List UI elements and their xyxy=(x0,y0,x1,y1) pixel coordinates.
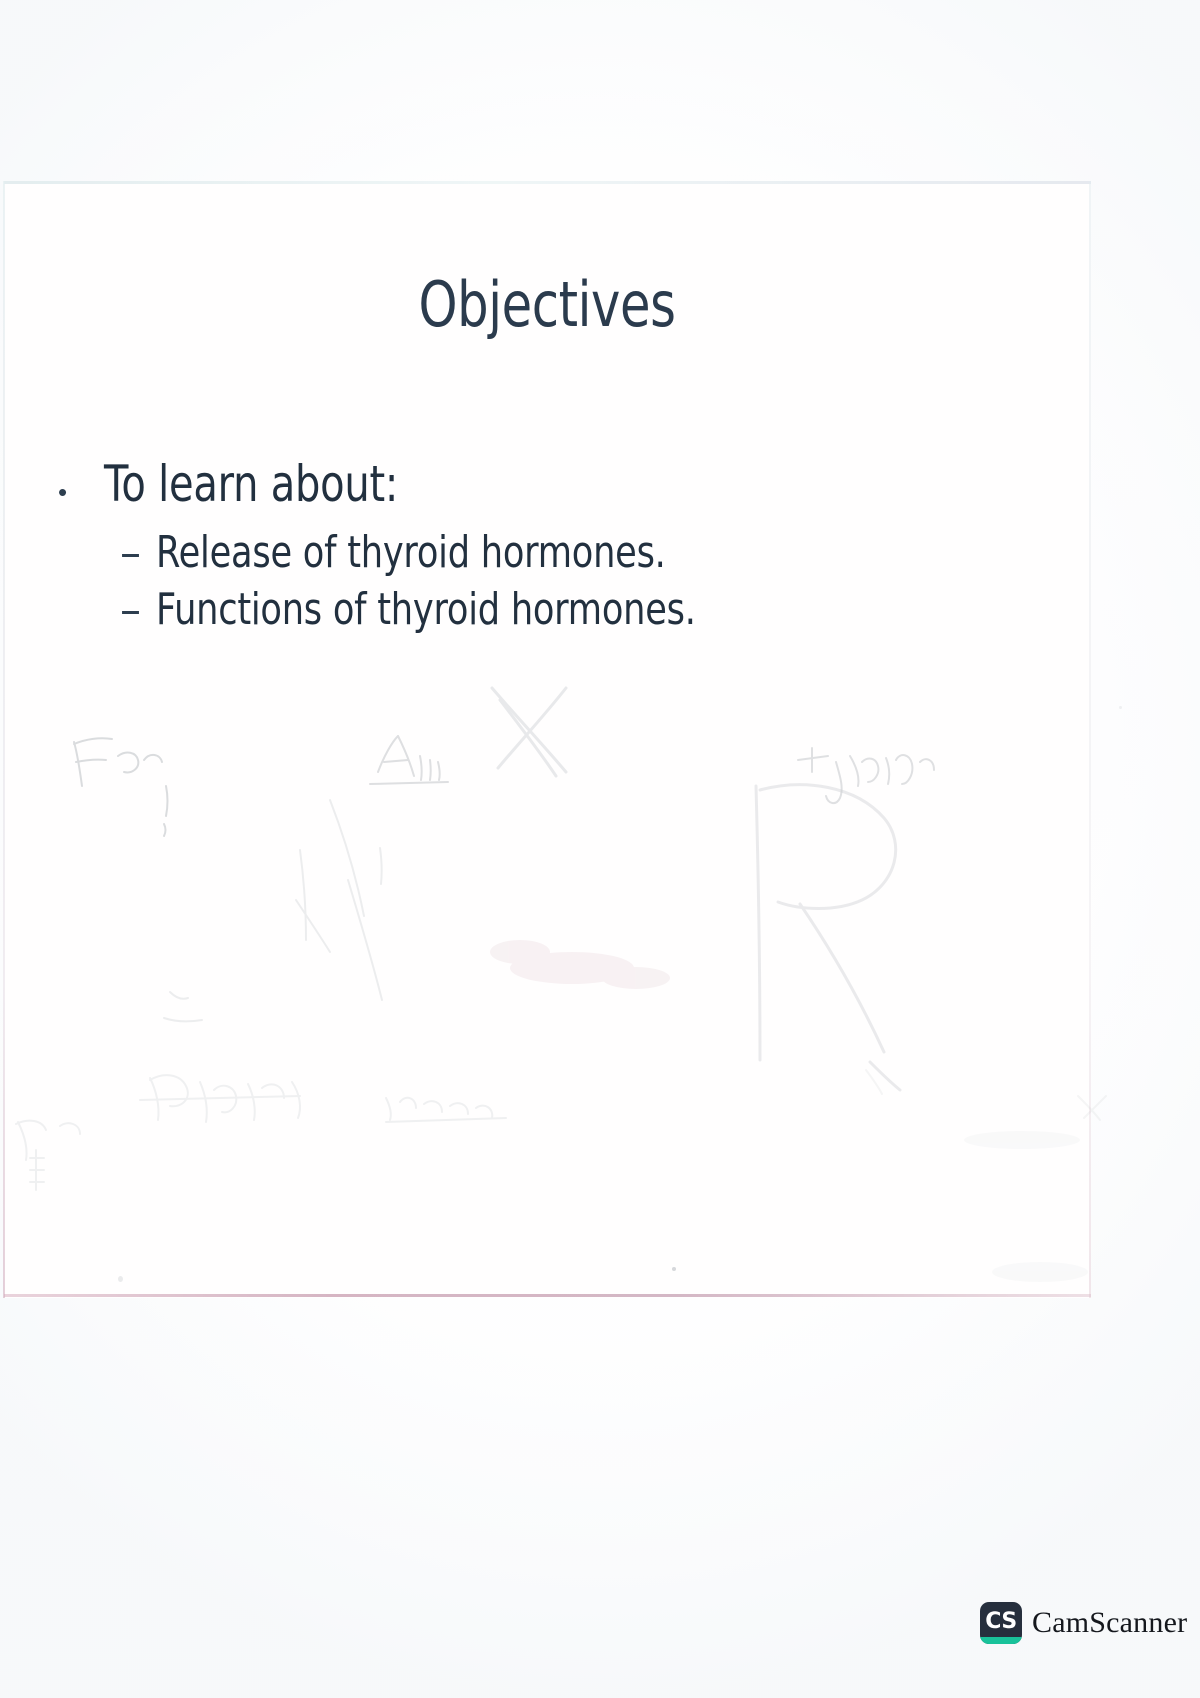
camscanner-watermark: CS CamScanner xyxy=(980,1602,1187,1644)
scanned-page: Objectives • To learn about: – Release o… xyxy=(0,0,1200,1698)
bullet-text-functions-of-thyroid-hormones: Functions of thyroid hormones. xyxy=(156,584,696,635)
bullet-item-sub-release: – Release of thyroid hormones. xyxy=(0,527,1094,578)
slide-title: Objectives xyxy=(109,268,984,341)
bullet-marker-dash-icon: – xyxy=(120,532,156,574)
camscanner-logo-letters: CS xyxy=(985,1611,1016,1633)
camscanner-logo-accent-bar xyxy=(980,1637,1022,1644)
scan-speck xyxy=(118,1276,123,1282)
bullet-item-sub-functions: – Functions of thyroid hormones. xyxy=(0,584,1094,635)
camscanner-wordmark: CamScanner xyxy=(1032,1606,1187,1640)
bullet-item-primary: • To learn about: xyxy=(0,455,1094,513)
slide-bullet-list: • To learn about: – Release of thyroid h… xyxy=(0,455,1094,641)
slide-region xyxy=(4,181,1091,1298)
camscanner-logo-icon: CS xyxy=(980,1602,1022,1644)
slide-border-top xyxy=(4,181,1091,184)
slide-border-left xyxy=(3,181,5,1298)
scan-speck xyxy=(1119,706,1122,709)
scan-speck xyxy=(672,1267,676,1271)
slide-border-right xyxy=(1089,181,1091,1298)
bullet-marker-dash-icon: – xyxy=(120,589,156,631)
bullet-marker-dot-icon: • xyxy=(58,479,104,505)
slide-border-bottom xyxy=(4,1294,1091,1297)
bullet-text-release-of-thyroid-hormones: Release of thyroid hormones. xyxy=(156,527,666,578)
bullet-text-to-learn-about: To learn about: xyxy=(104,455,398,513)
